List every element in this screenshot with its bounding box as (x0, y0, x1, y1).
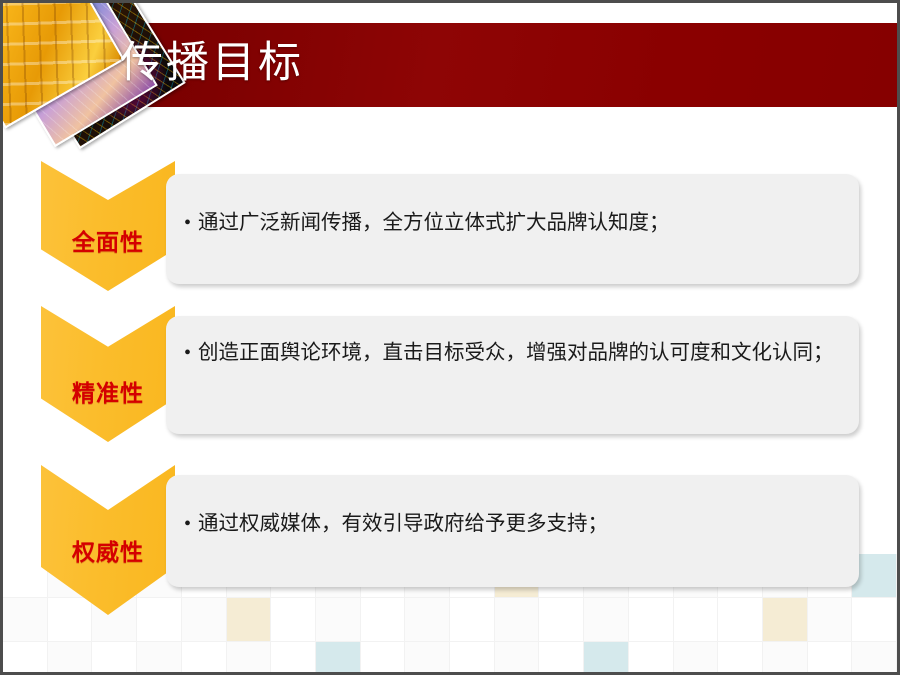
chevron-1[interactable]: 全面性 (41, 161, 175, 291)
bullet-text: 通过广泛新闻传播，全方位立体式扩大品牌认知度； (198, 206, 837, 240)
mosaic-cell (852, 554, 897, 598)
mosaic-cell (763, 642, 808, 672)
bullet-dot-icon: • (184, 206, 191, 240)
mosaic-cell (450, 598, 495, 642)
mosaic-cell (182, 642, 227, 672)
mosaic-cell (137, 642, 182, 672)
mosaic-cell (495, 642, 540, 672)
mosaic-cell (808, 642, 853, 672)
mosaic-cell (674, 642, 719, 672)
mosaic-cell (316, 598, 361, 642)
mosaic-row (3, 642, 897, 672)
mosaic-cell (852, 642, 897, 672)
bullet-dot-icon: • (184, 336, 191, 370)
mosaic-cell (227, 642, 272, 672)
chevron-2[interactable]: 精准性 (41, 306, 175, 442)
mosaic-cell (271, 642, 316, 672)
mosaic-cell (495, 598, 540, 642)
mosaic-cell (584, 642, 629, 672)
bullet-dot-icon: • (184, 507, 191, 541)
mosaic-cell (361, 642, 406, 672)
mosaic-cell (182, 598, 227, 642)
content-box-1: • 通过广泛新闻传播，全方位立体式扩大品牌认知度； (166, 174, 859, 284)
mosaic-cell (718, 598, 763, 642)
chevron-shape (41, 306, 175, 442)
mosaic-cell (539, 598, 584, 642)
bullet-item: • 创造正面舆论环境，直击目标受众，增强对品牌的认可度和文化认同； (166, 336, 859, 370)
mosaic-cell (227, 598, 272, 642)
mosaic-cell (718, 642, 763, 672)
chevron-3[interactable]: 权威性 (41, 465, 175, 615)
mosaic-cell (539, 642, 584, 672)
chevron-shape (41, 465, 175, 615)
mosaic-cell (629, 642, 674, 672)
bullet-text: 创造正面舆论环境，直击目标受众，增强对品牌的认可度和文化认同； (198, 336, 837, 370)
mosaic-cell (405, 642, 450, 672)
bullet-item: • 通过权威媒体，有效引导政府给予更多支持； (166, 507, 859, 541)
chevron-shape (41, 161, 175, 291)
mosaic-cell (450, 642, 495, 672)
mosaic-cell (48, 642, 93, 672)
mosaic-cell (92, 642, 137, 672)
mosaic-cell (271, 598, 316, 642)
mosaic-cell (629, 598, 674, 642)
mosaic-cell (584, 598, 629, 642)
mosaic-cell (674, 598, 719, 642)
mosaic-cell (316, 642, 361, 672)
mosaic-cell (852, 598, 897, 642)
mosaic-cell (3, 642, 48, 672)
bullet-item: • 通过广泛新闻传播，全方位立体式扩大品牌认知度； (166, 206, 859, 240)
mosaic-cell (361, 598, 406, 642)
slide-canvas: 传播目标 全面性 • 通过广泛新闻传播，全方位立体式扩大品牌认知度； 精准性 •… (0, 0, 900, 675)
content-box-3: • 通过权威媒体，有效引导政府给予更多支持； (166, 475, 859, 587)
mosaic-cell (763, 598, 808, 642)
mosaic-cell (808, 598, 853, 642)
mosaic-cell (405, 598, 450, 642)
page-title: 传播目标 (120, 31, 304, 97)
content-box-2: • 创造正面舆论环境，直击目标受众，增强对品牌的认可度和文化认同； (166, 316, 859, 434)
bullet-text: 通过权威媒体，有效引导政府给予更多支持； (198, 507, 837, 541)
